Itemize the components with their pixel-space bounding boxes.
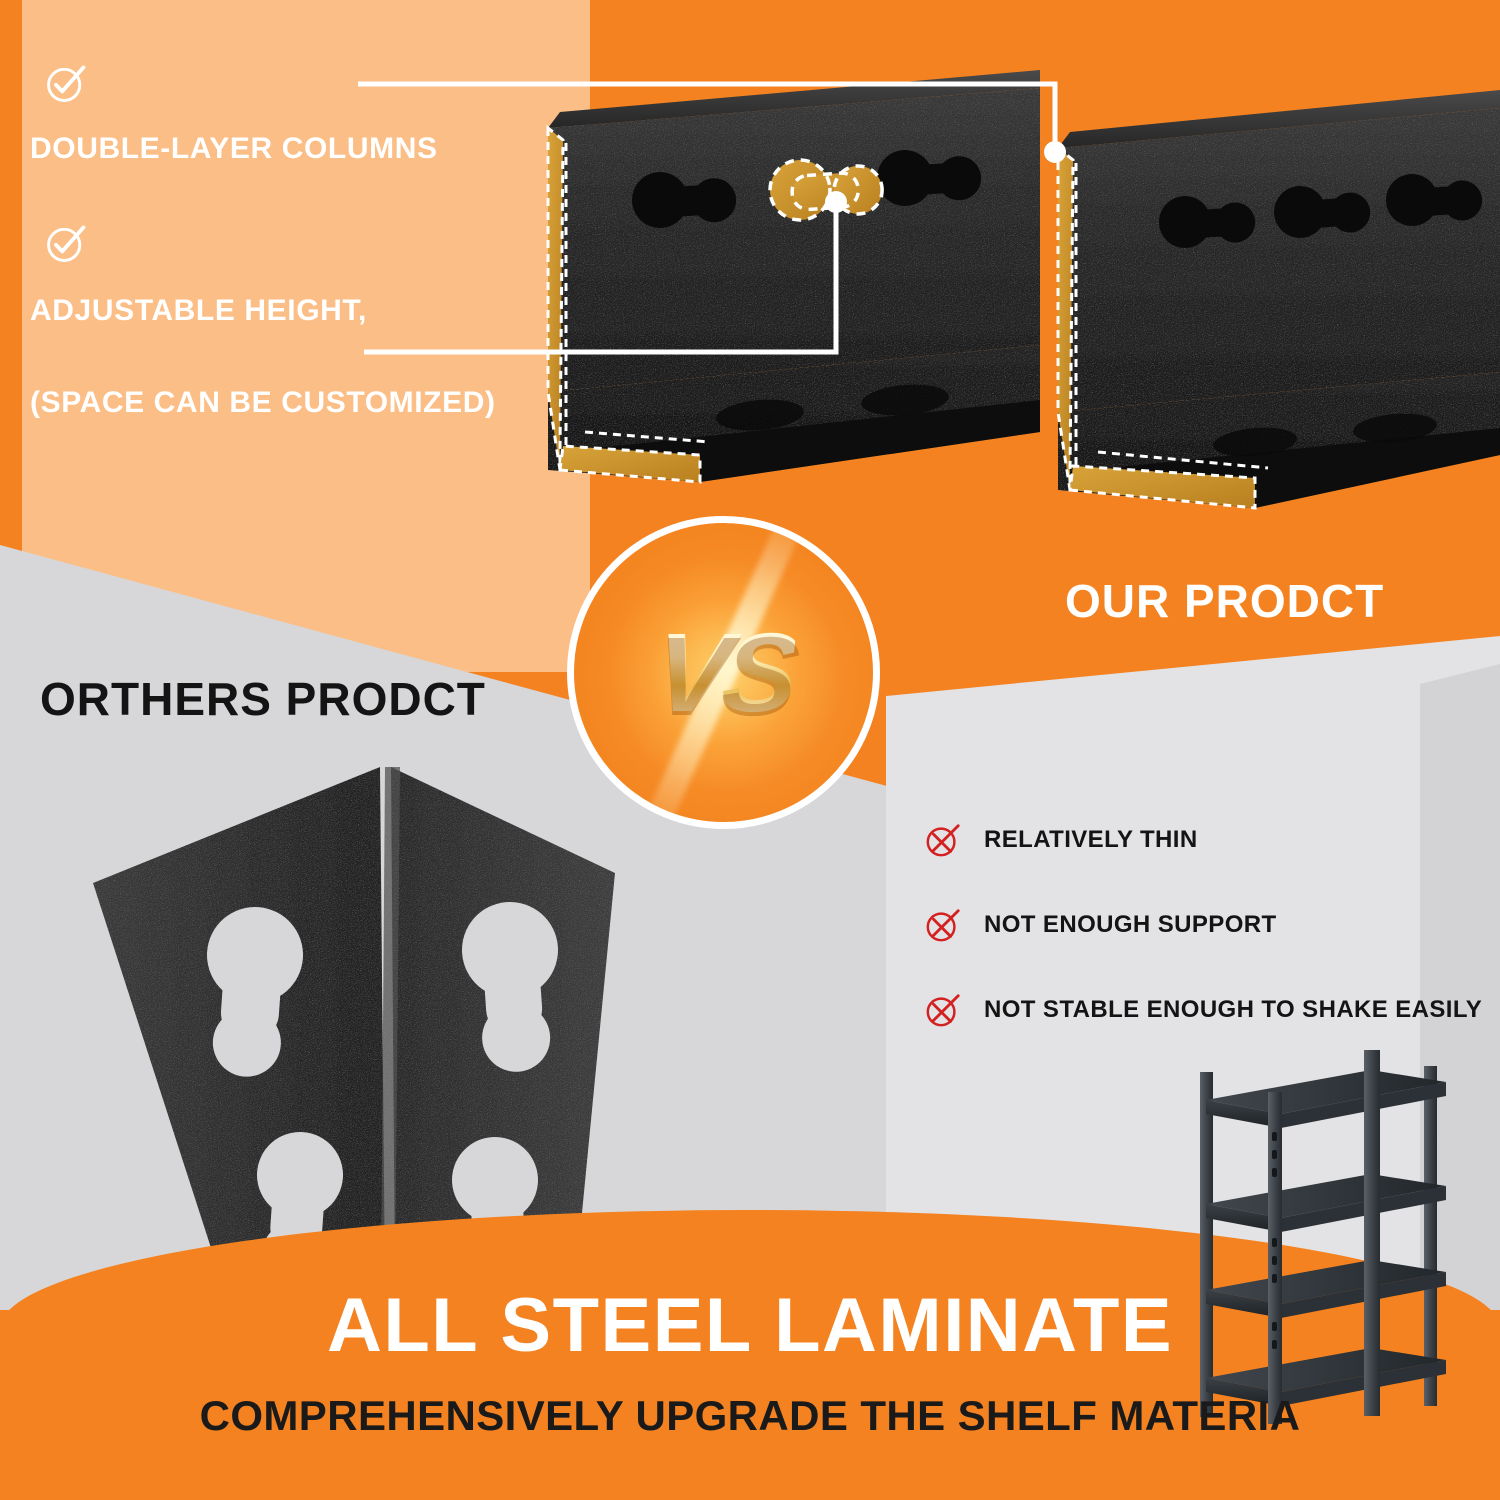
feature-item-1: ADJUSTABLE HEIGHT, xyxy=(30,222,590,326)
vs-badge: VS xyxy=(567,516,880,829)
vs-label: VS xyxy=(648,608,799,737)
banner-subtitle: COMPREHENSIVELY UPGRADE THE SHELF MATERI… xyxy=(0,1395,1500,1437)
banner-title: ALL STEEL LAMINATE xyxy=(0,1288,1500,1364)
cons-list: RELATIVELY THIN NOT ENOUGH SUPPORT NOT S… xyxy=(924,818,1464,1073)
check-circle-icon xyxy=(44,62,88,106)
feature-label: (SPACE CAN BE CUSTOMIZED) xyxy=(30,388,590,418)
x-circle-icon xyxy=(924,906,962,944)
con-item-1: NOT ENOUGH SUPPORT xyxy=(924,903,1464,947)
check-circle-icon xyxy=(44,222,88,266)
feature-item-2: (SPACE CAN BE CUSTOMIZED) xyxy=(30,388,590,418)
feature-label: DOUBLE-LAYER COLUMNS xyxy=(30,134,590,164)
con-label: NOT STABLE ENOUGH TO SHAKE EASILY xyxy=(984,996,1482,1024)
steel-beam-left-photo xyxy=(548,70,1040,482)
x-circle-icon xyxy=(924,821,962,859)
shelf-tier xyxy=(1206,1174,1446,1232)
features-list: DOUBLE-LAYER COLUMNS ADJUSTABLE HEIGHT, … xyxy=(30,62,590,418)
competitor-angle-bracket-photo xyxy=(55,755,615,1285)
background-left-orange-strip-overlay xyxy=(0,0,22,545)
others-product-heading: ORTHERS PRODCT xyxy=(40,672,486,726)
feature-label: ADJUSTABLE HEIGHT, xyxy=(30,296,590,326)
con-item-0: RELATIVELY THIN xyxy=(924,818,1464,862)
four-tier-shelving-unit-photo xyxy=(1186,1042,1486,1442)
infographic-canvas: DOUBLE-LAYER COLUMNS ADJUSTABLE HEIGHT, … xyxy=(0,0,1500,1500)
con-label: NOT ENOUGH SUPPORT xyxy=(984,911,1277,939)
shelf-tier xyxy=(1206,1070,1446,1128)
con-label: RELATIVELY THIN xyxy=(984,826,1198,854)
con-item-2: NOT STABLE ENOUGH TO SHAKE EASILY xyxy=(924,988,1464,1032)
steel-beam-right-photo xyxy=(1058,90,1500,508)
our-product-heading: OUR PRODCT xyxy=(1065,574,1384,628)
x-circle-icon xyxy=(924,991,962,1029)
feature-item-0: DOUBLE-LAYER COLUMNS xyxy=(30,62,590,164)
